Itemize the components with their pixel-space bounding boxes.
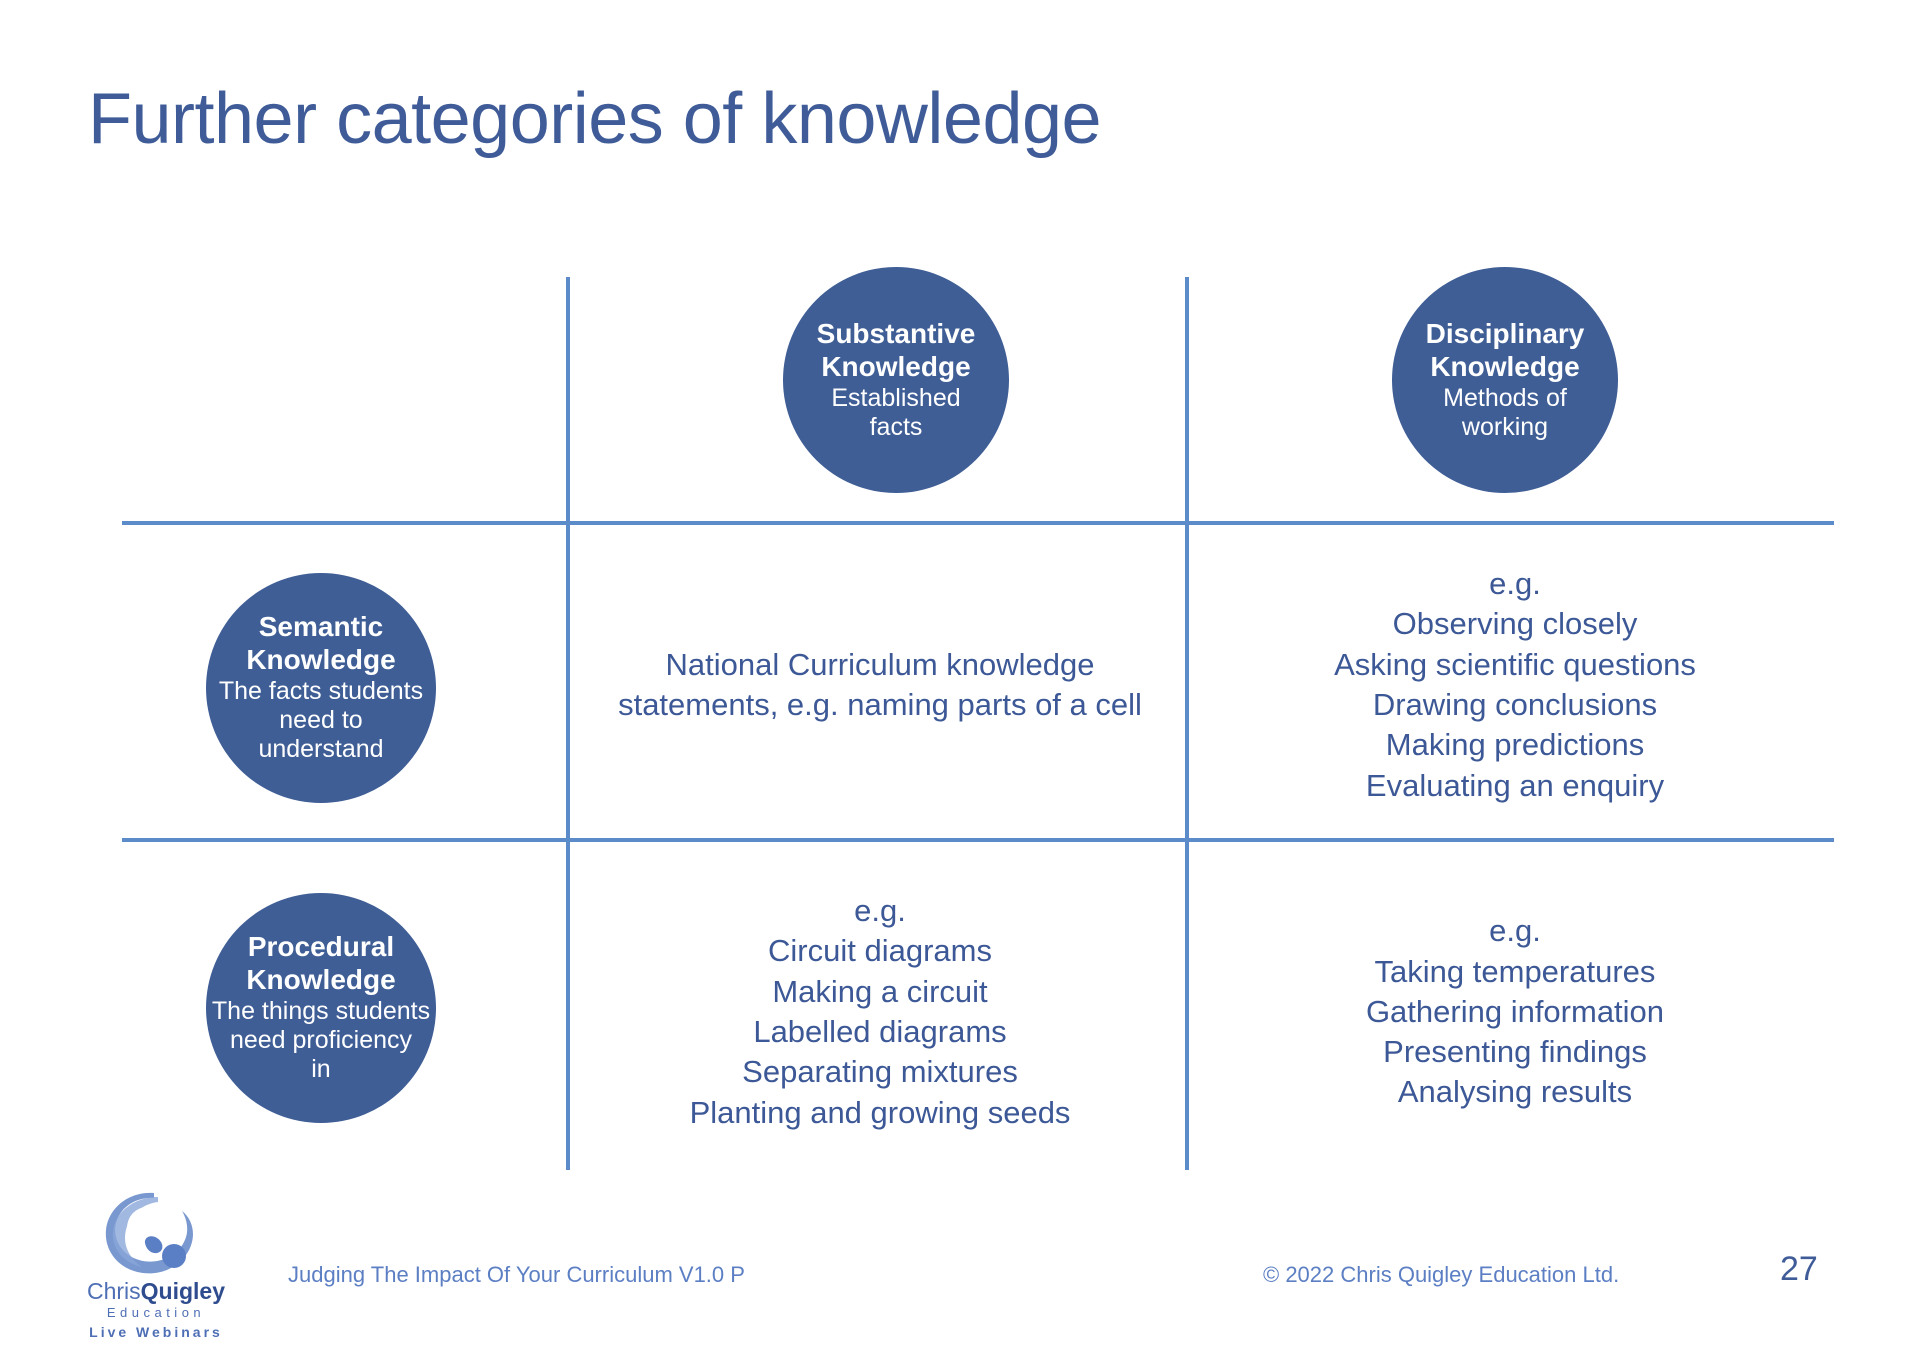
bubble-substantive-knowledge: Substantive Knowledge Established facts — [783, 267, 1009, 493]
footer-document-title: Judging The Impact Of Your Curriculum V1… — [288, 1262, 745, 1288]
page-number: 27 — [1780, 1250, 1818, 1289]
bubble-disciplinary-subtitle: Methods of working — [1443, 384, 1567, 443]
bubble-substantive-subtitle: Established facts — [831, 384, 960, 443]
logo-tagline-education: Education — [72, 1305, 240, 1320]
cell-substantive-semantic: National Curriculum knowledge statements… — [600, 545, 1160, 825]
bubble-substantive-title: Substantive Knowledge — [817, 318, 976, 384]
footer-copyright: © 2022 Chris Quigley Education Ltd. — [1263, 1262, 1619, 1288]
chris-quigley-logo: ChrisQuigley Education Live Webinars — [72, 1188, 240, 1338]
bubble-semantic-subtitle: The facts students need to understand — [219, 677, 423, 765]
grid-rule-vertical-right — [1185, 277, 1189, 1170]
grid-rule-vertical-left — [566, 277, 570, 1170]
bubble-procedural-subtitle: The things students need proficiency in — [212, 997, 430, 1085]
grid-rule-horizontal-top — [122, 521, 1834, 525]
slide-canvas: Further categories of knowledge Substant… — [0, 0, 1920, 1362]
logo-name-bold: Quigley — [141, 1278, 225, 1304]
bubble-semantic-title: Semantic Knowledge — [246, 611, 395, 677]
cell-substantive-procedural: e.g. Circuit diagrams Making a circuit L… — [600, 862, 1160, 1162]
bubble-disciplinary-title: Disciplinary Knowledge — [1426, 318, 1585, 384]
bubble-disciplinary-knowledge: Disciplinary Knowledge Methods of workin… — [1392, 267, 1618, 493]
page-title: Further categories of knowledge — [88, 78, 1101, 160]
grid-rule-horizontal-bottom — [122, 838, 1834, 842]
logo-tagline-live-webinars: Live Webinars — [72, 1324, 240, 1340]
cell-disciplinary-semantic: e.g. Observing closely Asking scientific… — [1215, 545, 1815, 825]
cell-disciplinary-procedural: e.g. Taking temperatures Gathering infor… — [1215, 862, 1815, 1162]
bubble-semantic-knowledge: Semantic Knowledge The facts students ne… — [206, 573, 436, 803]
logo-name-light: Chris — [87, 1278, 141, 1304]
bubble-procedural-title: Procedural Knowledge — [246, 931, 395, 997]
logo-wordmark: ChrisQuigley — [72, 1280, 240, 1303]
bubble-procedural-knowledge: Procedural Knowledge The things students… — [206, 893, 436, 1123]
brush-circle-q-icon — [100, 1188, 204, 1278]
